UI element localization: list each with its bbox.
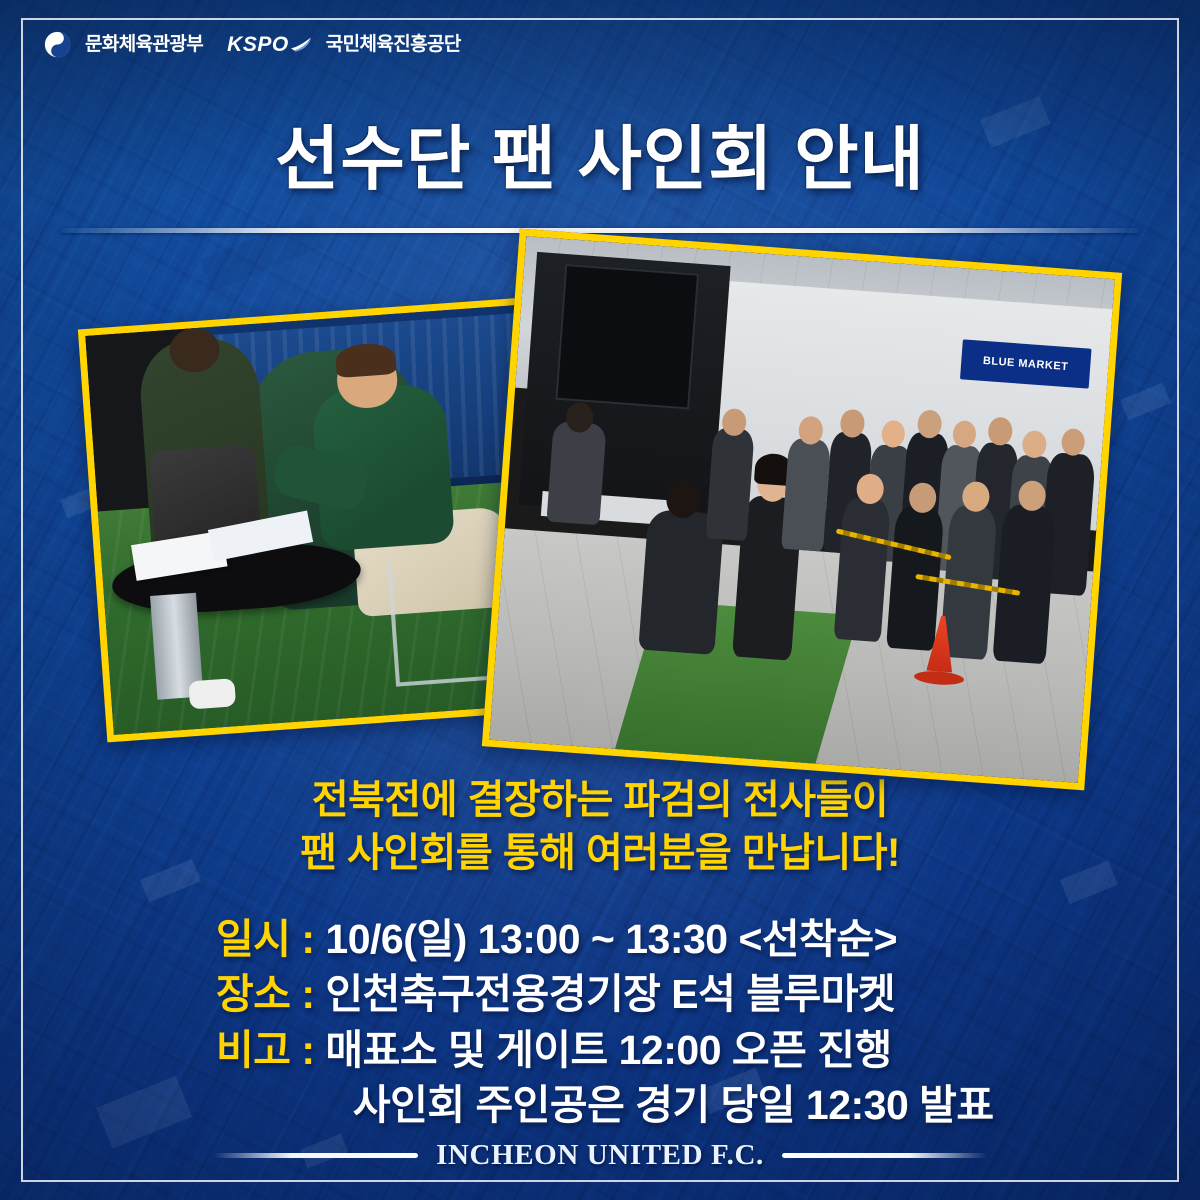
detail-sep-datetime: : bbox=[301, 916, 314, 962]
detail-label-datetime: 일시 bbox=[216, 916, 290, 962]
detail-row-datetime: 일시 : 10/6(일) 13:00 ~ 13:30 <선착순> bbox=[216, 912, 1116, 967]
detail-value-venue: 인천축구전용경기장 E석 블루마켓 bbox=[325, 971, 895, 1017]
footer-rule-left bbox=[213, 1153, 418, 1158]
poster-root: 문화체육관광부 KSPO 국민체육진흥공단 선수단 팬 사인회 안내 bbox=[0, 0, 1200, 1200]
photo-fan-queue[interactable]: BLUE MARKET bbox=[482, 229, 1122, 791]
page-title: 선수단 팬 사인회 안내 bbox=[0, 124, 1200, 194]
kspo-label: 국민체육진흥공단 bbox=[326, 35, 461, 54]
photo-fan-queue-content: BLUE MARKET bbox=[489, 236, 1114, 783]
event-details: 일시 : 10/6(일) 13:00 ~ 13:30 <선착순> 장소 : 인천… bbox=[216, 912, 1116, 1133]
detail-sep-notes: : bbox=[301, 1027, 314, 1073]
detail-value-notes-2: 사인회 주인공은 경기 당일 12:30 발표 bbox=[353, 1082, 994, 1128]
sponsor-bar: 문화체육관광부 KSPO 국민체육진흥공단 bbox=[44, 27, 461, 61]
subtitle: 전북전에 결장하는 파검의 전사들이 팬 사인회를 통해 여러분을 만납니다! bbox=[0, 774, 1200, 880]
swoosh-icon bbox=[290, 36, 312, 52]
crowd-figures bbox=[489, 236, 1114, 783]
detail-value-datetime: 10/6(일) 13:00 ~ 13:30 <선착순> bbox=[325, 916, 897, 962]
detail-row-notes: 비고 : 매표소 및 게이트 12:00 오픈 진행 bbox=[216, 1023, 1116, 1078]
footer-club-name: INCHEON UNITED F.C. bbox=[436, 1139, 764, 1172]
ministry-label: 문화체육관광부 bbox=[85, 35, 203, 54]
subtitle-line-2: 팬 사인회를 통해 여러분을 만납니다! bbox=[0, 827, 1200, 880]
detail-value-notes: 매표소 및 게이트 12:00 오픈 진행 bbox=[325, 1027, 891, 1073]
detail-row-notes-2: 사인회 주인공은 경기 당일 12:30 발표 bbox=[216, 1078, 1116, 1133]
title-divider bbox=[60, 228, 1140, 233]
kspo-wordmark: KSPO bbox=[227, 34, 289, 55]
detail-sep-venue: : bbox=[301, 971, 314, 1017]
detail-label-notes: 비고 bbox=[216, 1027, 290, 1073]
taegeuk-icon bbox=[44, 31, 71, 58]
detail-row-venue: 장소 : 인천축구전용경기장 E석 블루마켓 bbox=[216, 967, 1116, 1022]
kspo-logo: KSPO bbox=[227, 34, 312, 55]
footer-rule-right bbox=[782, 1153, 987, 1158]
detail-label-venue: 장소 bbox=[216, 971, 290, 1017]
footer: INCHEON UNITED F.C. bbox=[0, 1139, 1200, 1172]
